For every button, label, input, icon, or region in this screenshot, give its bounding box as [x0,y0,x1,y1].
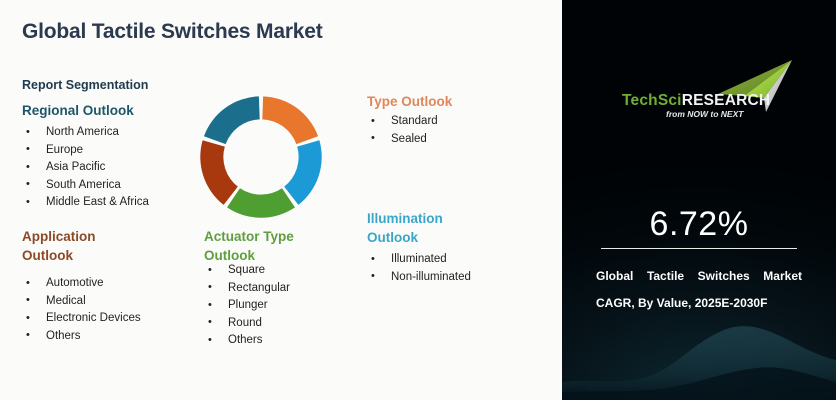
section-list-illumination-outlook: Illuminated Non-illuminated [367,251,471,286]
infographic-root: Global Tactile Switches Market Report Se… [0,0,836,400]
list-item: Illuminated [367,251,471,269]
brand-panel: TechSciRESEARCH from NOW to NEXT 6.72% G… [562,0,836,400]
report-segmentation-label: Report Segmentation [22,76,148,95]
section-heading-application-outlook: Application Outlook [22,227,96,265]
segmentation-donut-chart [192,88,330,226]
section-list-actuator-type-outlook: Square Rectangular Plunger Round Others [204,262,290,350]
donut-segment [284,140,322,205]
list-item: Others [22,328,141,346]
cagr-block: 6.72% Global Tactile Switches Market CAG… [562,205,836,317]
cagr-divider [601,248,797,249]
section-heading-regional-outlook: Regional Outlook [22,101,134,120]
list-item: Rectangular [204,280,290,298]
logo-tagline: from NOW to NEXT [666,109,743,119]
list-item: Others [204,332,290,350]
section-list-application-outlook: Automotive Medical Electronic Devices Ot… [22,275,141,345]
list-item: North America [22,124,149,142]
list-item: Standard [367,113,438,131]
list-item: Automotive [22,275,141,293]
logo-wordmark: TechSciRESEARCH [622,92,770,110]
list-item: Non-illuminated [367,269,471,287]
section-heading-illumination-outlook: Illumination Outlook [367,209,443,247]
techsci-research-logo: TechSciRESEARCH from NOW to NEXT [614,56,804,128]
donut-segment [262,96,318,144]
page-title: Global Tactile Switches Market [22,20,323,44]
cagr-caption: Global Tactile Switches Market CAGR, By … [596,263,802,317]
donut-segment [200,140,238,205]
list-item: Sealed [367,131,438,149]
section-heading-type-outlook: Type Outlook [367,92,452,111]
logo-text-techsci: TechSci [622,92,682,109]
list-item: Square [204,262,290,280]
list-item: Medical [22,293,141,311]
donut-segment [227,188,295,218]
list-item: Europe [22,142,149,160]
list-item: Middle East & Africa [22,194,149,212]
left-content-panel: Global Tactile Switches Market Report Se… [0,0,562,400]
section-list-regional-outlook: North America Europe Asia Pacific South … [22,124,149,212]
list-item: Asia Pacific [22,159,149,177]
section-heading-actuator-type-outlook: Actuator Type Outlook [204,227,294,265]
list-item: South America [22,177,149,195]
cagr-value: 6.72% [562,205,836,243]
list-item: Round [204,315,290,333]
section-list-type-outlook: Standard Sealed [367,113,438,148]
list-item: Electronic Devices [22,310,141,328]
donut-segment [204,96,260,144]
list-item: Plunger [204,297,290,315]
logo-text-research: RESEARCH [682,92,771,109]
